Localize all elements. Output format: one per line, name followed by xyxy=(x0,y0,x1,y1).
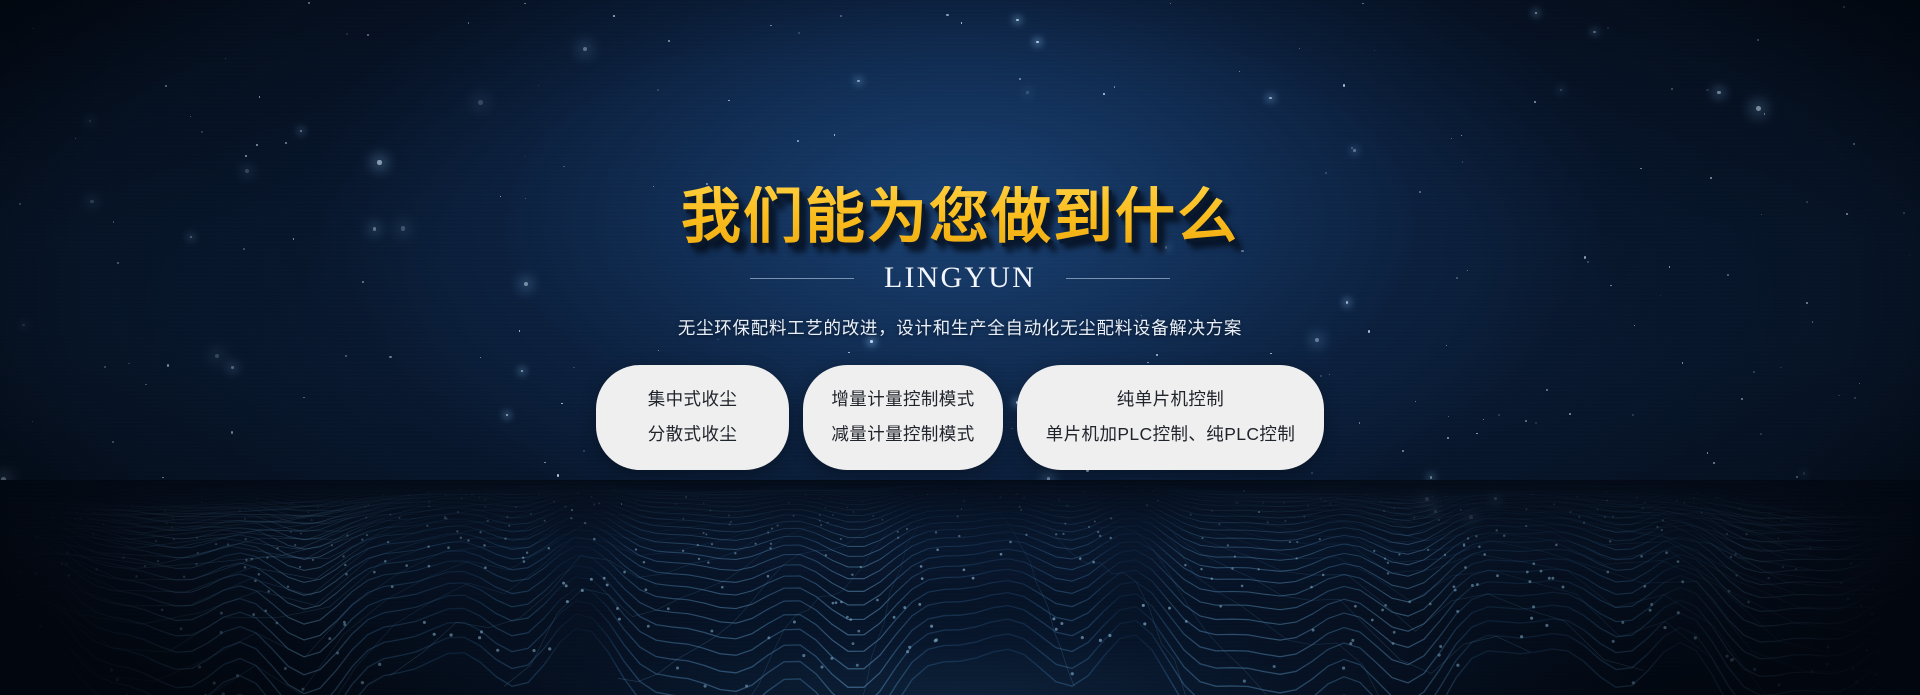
brand-name: LINGYUN xyxy=(884,261,1036,295)
feature-pill-control-system[interactable]: 纯单片机控制 单片机加PLC控制、纯PLC控制 xyxy=(1017,365,1324,469)
pill-line-1: 增量计量控制模式 xyxy=(831,382,974,416)
feature-pill-metering-mode[interactable]: 增量计量控制模式 减量计量控制模式 xyxy=(803,365,1003,469)
feature-pill-dust-collection[interactable]: 集中式收尘 分散式收尘 xyxy=(596,365,789,469)
pill-line-1: 集中式收尘 xyxy=(648,382,738,416)
divider-line-left xyxy=(750,278,854,279)
divider-line-right xyxy=(1066,278,1170,279)
pill-line-2: 分散式收尘 xyxy=(648,417,738,451)
hero-banner: 我们能为您做到什么 LINGYUN 无尘环保配料工艺的改进，设计和生产全自动化无… xyxy=(0,0,1920,695)
page-title: 我们能为您做到什么 xyxy=(681,186,1239,248)
pill-line-2: 减量计量控制模式 xyxy=(831,417,974,451)
page-subtitle: 无尘环保配料工艺的改进，设计和生产全自动化无尘配料设备解决方案 xyxy=(678,315,1242,340)
brand-eyebrow-row: LINGYUN xyxy=(750,261,1170,295)
pill-line-1: 纯单片机控制 xyxy=(1117,382,1224,416)
feature-pill-list: 集中式收尘 分散式收尘 增量计量控制模式 减量计量控制模式 纯单片机控制 单片机… xyxy=(596,365,1324,469)
pill-line-2: 单片机加PLC控制、纯PLC控制 xyxy=(1046,417,1296,451)
banner-content: 我们能为您做到什么 LINGYUN 无尘环保配料工艺的改进，设计和生产全自动化无… xyxy=(0,0,1920,695)
